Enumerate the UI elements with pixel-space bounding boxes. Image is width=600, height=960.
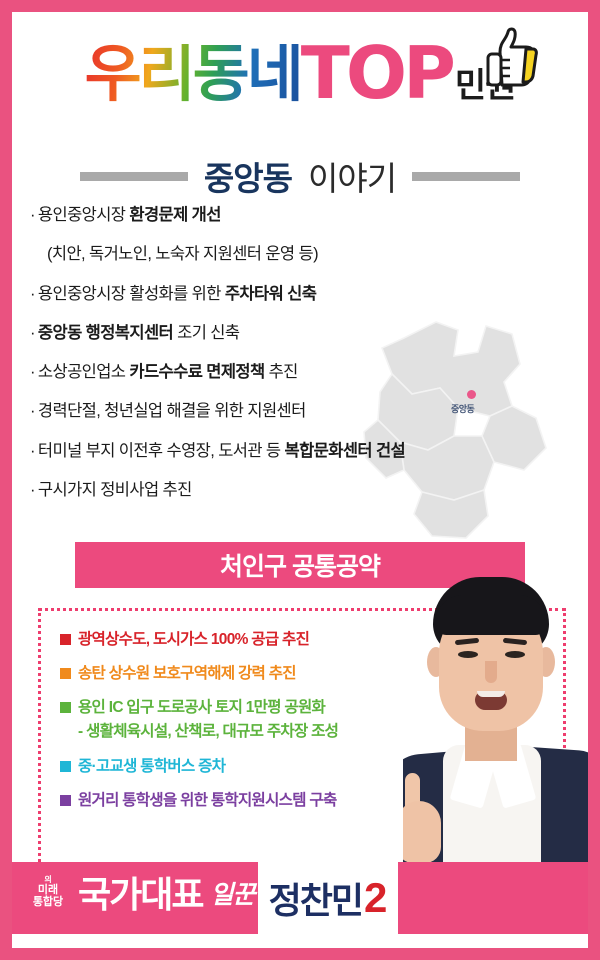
candidate-number: 2 (364, 877, 387, 919)
local-promise-item: ·용인중앙시장 활성화를 위한 주차타워 신축 (30, 283, 570, 305)
bottom-bar: 의 미래 통합당 국가대표 일꾼 정찬민 2 (12, 862, 588, 948)
common-promise-text: 용인 IC 입구 도로공사 토지 1만평 공원화 (78, 699, 325, 716)
square-bullet-icon (60, 761, 71, 772)
hair-fringe (435, 595, 547, 635)
subtitle-row: 중앙동이야기 (12, 152, 588, 200)
bottom-white-strip (12, 934, 588, 948)
bullet-dot-icon: · (30, 442, 35, 460)
local-promise-text: 복합문화센터 건설 (285, 442, 406, 460)
common-promise-text: 송탄 상수원 보호구역해제 강력 추진 (78, 665, 296, 682)
bullet-dot-icon: · (30, 206, 35, 224)
thumbs-up-icon (480, 26, 540, 88)
bullet-dot-icon: · (30, 324, 35, 342)
brand-top-text: TOP (301, 40, 452, 106)
local-promise-text: 터미널 부지 이전후 수영장, 도서관 등 (38, 442, 285, 460)
brand-rainbow-text: 우리동네 (85, 44, 303, 106)
local-promise-text: 구시가지 정비사업 추진 (38, 481, 192, 499)
subtitle-district: 중앙동 (204, 152, 292, 200)
local-promise-text: 주차타워 신축 (225, 285, 316, 303)
local-promise-list: ·용인중앙시장 환경문제 개선(치안, 독거노인, 노숙자 지원센터 운영 등)… (12, 204, 588, 518)
common-promise-text: 원거리 통학생을 위한 통학지원시스템 구축 (78, 792, 337, 809)
local-promise-item: ·용인중앙시장 환경문제 개선 (30, 204, 570, 226)
local-promise-text: 중앙동 행정복지센터 (38, 324, 177, 342)
bullet-dot-icon: · (30, 402, 35, 420)
party-line2: 미래 (20, 885, 76, 897)
eye-right (505, 651, 525, 658)
campaign-poster: 우리동네 TOP 민원 중앙동이야기 (0, 0, 600, 960)
candidate-portrait (403, 577, 588, 862)
local-promise-text: 카드수수료 면제정책 (129, 363, 264, 381)
common-promise-text: 중·고교생 통학버스 증차 (78, 758, 225, 775)
local-promise-text: (치안, 독거노인, 노숙자 지원센터 운영 등) (47, 245, 318, 263)
local-promise-text: 조기 신축 (177, 324, 239, 342)
slogan-main: 국가대표 (78, 870, 202, 920)
party-logo: 의 미래 통합당 (20, 876, 76, 908)
subtitle-bar-right (412, 172, 520, 181)
bullet-dot-icon: · (30, 285, 35, 303)
local-promise-item: ·소상공인업소 카드수수료 면제정책 추진 (30, 361, 570, 383)
teeth (477, 691, 505, 697)
bullet-dot-icon: · (30, 481, 35, 499)
local-promise-text: 용인중앙시장 활성화를 위한 (38, 285, 225, 303)
candidate-name: 정찬민 (269, 872, 362, 924)
local-promise-item: ·터미널 부지 이전후 수영장, 도서관 등 복합문화센터 건설 (30, 440, 570, 462)
local-promise-text: 소상공인업소 (38, 363, 129, 381)
subtitle-story: 이야기 (308, 152, 396, 200)
eye-left (458, 651, 478, 658)
local-promise-item: ·중앙동 행정복지센터 조기 신축 (30, 322, 570, 344)
subtitle-bar-left (80, 172, 188, 181)
candidate-name-box: 정찬민 2 (258, 862, 398, 934)
party-line3: 통합당 (20, 897, 76, 909)
common-promise-text: 광역상수도, 도시가스 100% 공급 추진 (78, 631, 309, 648)
nose (485, 661, 497, 683)
slogan: 국가대표 일꾼 (78, 870, 255, 920)
local-promise-text: 환경문제 개선 (129, 206, 220, 224)
poster-inner: 우리동네 TOP 민원 중앙동이야기 (12, 12, 588, 948)
square-bullet-icon (60, 634, 71, 645)
local-promise-text: 용인중앙시장 (38, 206, 129, 224)
bullet-dot-icon: · (30, 363, 35, 381)
local-promise-item: ·경력단절, 청년실업 해결을 위한 지원센터 (30, 400, 570, 422)
local-promise-text: 추진 (265, 363, 298, 381)
square-bullet-icon (60, 795, 71, 806)
slogan-sub: 일꾼 (210, 878, 254, 913)
local-promise-text: 경력단절, 청년실업 해결을 위한 지원센터 (38, 402, 306, 420)
square-bullet-icon (60, 668, 71, 679)
local-promise-item: ·구시가지 정비사업 추진 (30, 479, 570, 501)
poster-header: 우리동네 TOP 민원 중앙동이야기 (12, 12, 588, 147)
hand (403, 801, 441, 862)
local-promise-item: (치안, 독거노인, 노숙자 지원센터 운영 등) (30, 243, 570, 265)
banner-label: 처인구 공통공약 (220, 547, 380, 583)
square-bullet-icon (60, 702, 71, 713)
